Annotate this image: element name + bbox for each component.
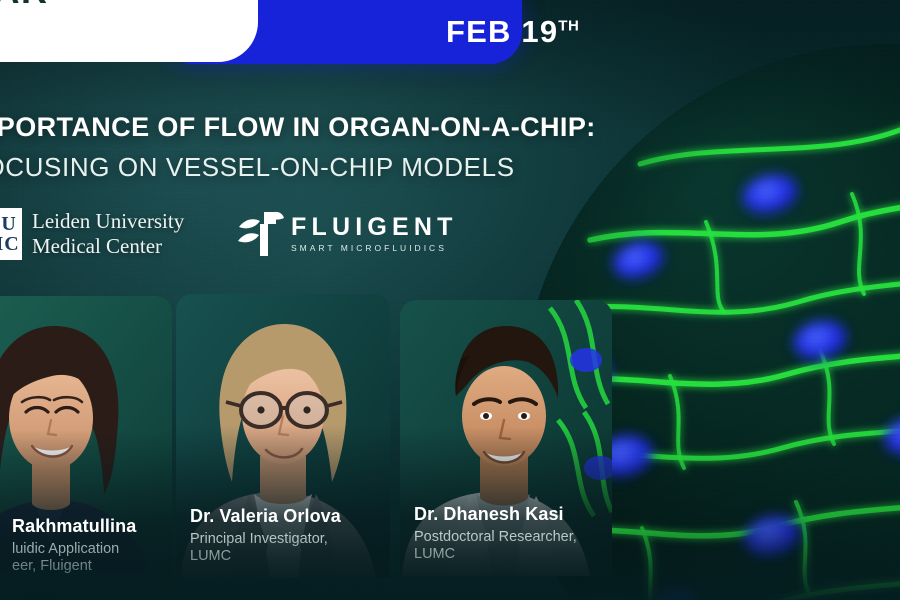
page-title-line1: IMPORTANCE OF FLOW IN ORGAN-ON-A-CHIP: [0,112,596,143]
fluigent-logo: FLUIGENT SMART MICROFLUIDICS [238,210,458,258]
date-ordinal: TH [558,18,579,35]
lumc-name-line1: Leiden University [32,209,184,234]
speaker-name-2: Dr. Valeria Orlova [190,507,382,527]
date-label: FEB 19TH [446,14,579,50]
speaker-card-1: Rakhmatullina luidic Application eer, Fl… [0,296,172,588]
speaker-role-2: Principal Investigator, LUMC [190,531,382,566]
lumc-wordmark: Leiden University Medical Center [32,209,184,259]
lumc-mark-line2: MC [0,234,20,254]
speaker-info-3: Dr. Dhanesh Kasi Postdoctoral Researcher… [414,505,604,564]
speaker-name-1: Rakhmatullina [12,517,164,537]
speaker-card-2: Dr. Valeria Orlova Principal Investigato… [176,294,390,578]
speaker-info-1: Rakhmatullina luidic Application eer, Fl… [12,517,164,576]
lumc-logo: LU MC Leiden University Medical Center [0,208,184,260]
page-title-line2: FOCUSING ON VESSEL-ON-CHIP MODELS [0,152,515,183]
speaker-info-2: Dr. Valeria Orlova Principal Investigato… [190,507,382,566]
speaker-card-3: Dr. Dhanesh Kasi Postdoctoral Researcher… [400,300,612,576]
speaker-role-3: Postdoctoral Researcher, LUMC [414,529,604,564]
webinar-label: WEBINAR [0,0,48,12]
speaker-name-3: Dr. Dhanesh Kasi [414,505,604,525]
lumc-mark-icon: LU MC [0,208,22,260]
fluigent-name: FLUIGENT [291,215,458,240]
speaker-role-1: luidic Application eer, Fluigent [12,541,164,576]
lumc-mark-line1: LU [0,214,17,234]
webinar-banner: FEB 19TH WEBINAR IMPORTANCE OF FLOW IN O… [0,0,900,600]
fluigent-wordmark: FLUIGENT SMART MICROFLUIDICS [291,215,458,253]
fluigent-mark-icon [238,210,284,258]
lumc-name-line2: Medical Center [32,234,184,259]
date-value: FEB 19 [446,14,558,49]
fluigent-tagline: SMART MICROFLUIDICS [291,244,458,253]
webinar-pill: WEBINAR [0,0,258,62]
